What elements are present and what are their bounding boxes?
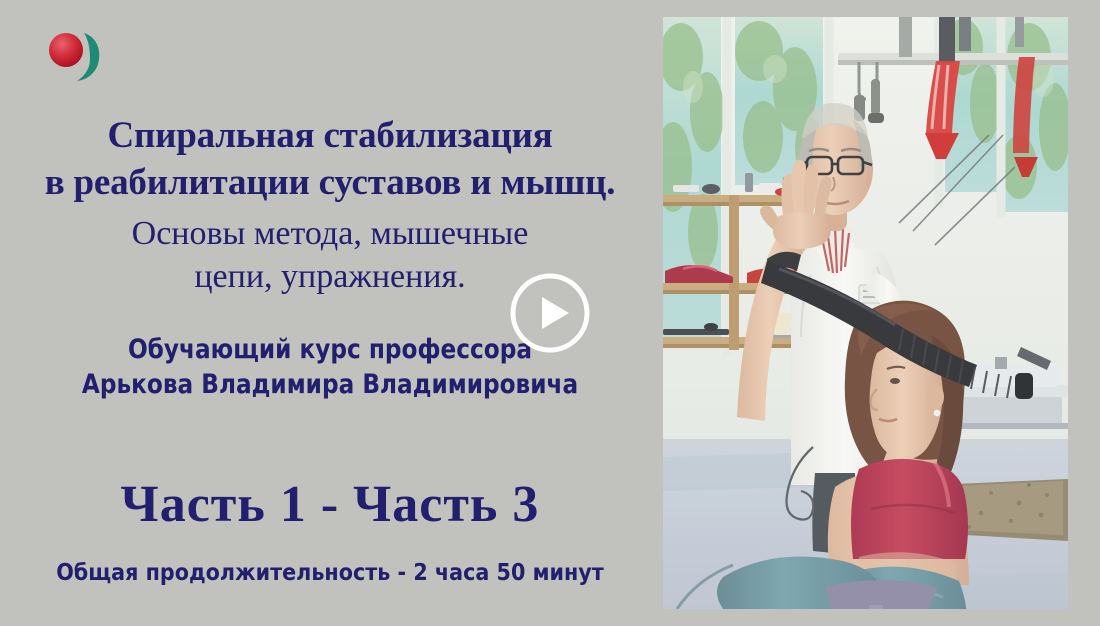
- page-title-line-1: Спиральная стабилизация: [0, 117, 660, 154]
- play-button[interactable]: [509, 272, 591, 354]
- author-line-2: Арькова Владимира Владимировича: [46, 371, 614, 398]
- total-duration-label: Общая продолжительность - 2 часа 50 мину…: [33, 562, 627, 585]
- photo-illustration: ✕: [663, 17, 1068, 609]
- video-thumbnail-slide: Спиральная стабилизация в реабилитации с…: [0, 0, 1100, 626]
- subtitle-line-1: Основы метода, мышечные: [0, 217, 660, 251]
- parts-range-label: Часть 1 - Часть 3: [0, 479, 660, 531]
- play-button-svg[interactable]: [509, 272, 591, 354]
- course-preview-photo: ✕: [663, 17, 1068, 609]
- play-triangle-icon[interactable]: [542, 297, 569, 329]
- page-title-line-2: в реабилитации суставов и мышц.: [0, 164, 660, 201]
